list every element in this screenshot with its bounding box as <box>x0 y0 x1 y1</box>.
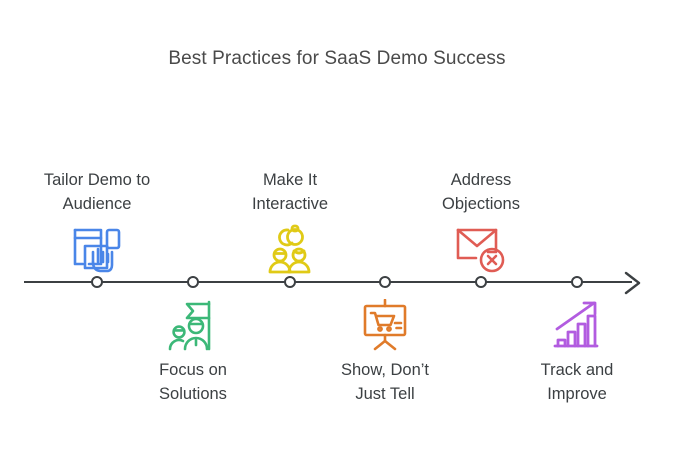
people-flag-icon <box>98 298 288 352</box>
step-label-3: Make It Interactive <box>195 168 385 216</box>
presentation-cart-icon <box>290 298 480 352</box>
envelope-x-icon <box>386 222 576 276</box>
timeline-node-6[interactable] <box>571 276 583 288</box>
page-title: Best Practices for SaaS Demo Success <box>0 48 674 70</box>
devices-hand-icon <box>2 222 192 276</box>
timeline-arrow-icon <box>624 270 652 296</box>
timeline-step-show-dont-just-tell[interactable]: Show, Don’t Just Tell <box>290 298 480 406</box>
step-label-5: Address Objections <box>386 168 576 216</box>
growth-chart-icon <box>482 298 672 352</box>
step-label-6: Track and Improve <box>482 358 672 406</box>
infographic-canvas: Best Practices for SaaS Demo Success Tai… <box>0 0 674 458</box>
timeline-node-5[interactable] <box>475 276 487 288</box>
timeline-step-focus-on-solutions[interactable]: Focus on Solutions <box>98 298 288 406</box>
timeline-node-2[interactable] <box>187 276 199 288</box>
timeline-node-4[interactable] <box>379 276 391 288</box>
step-label-2: Focus on Solutions <box>98 358 288 406</box>
timeline-line <box>24 281 632 283</box>
people-connection-icon <box>195 222 385 276</box>
step-label-1: Tailor Demo to Audience <box>2 168 192 216</box>
step-label-4: Show, Don’t Just Tell <box>290 358 480 406</box>
timeline-step-track-and-improve[interactable]: Track and Improve <box>482 298 672 406</box>
timeline-node-3[interactable] <box>284 276 296 288</box>
timeline-node-1[interactable] <box>91 276 103 288</box>
